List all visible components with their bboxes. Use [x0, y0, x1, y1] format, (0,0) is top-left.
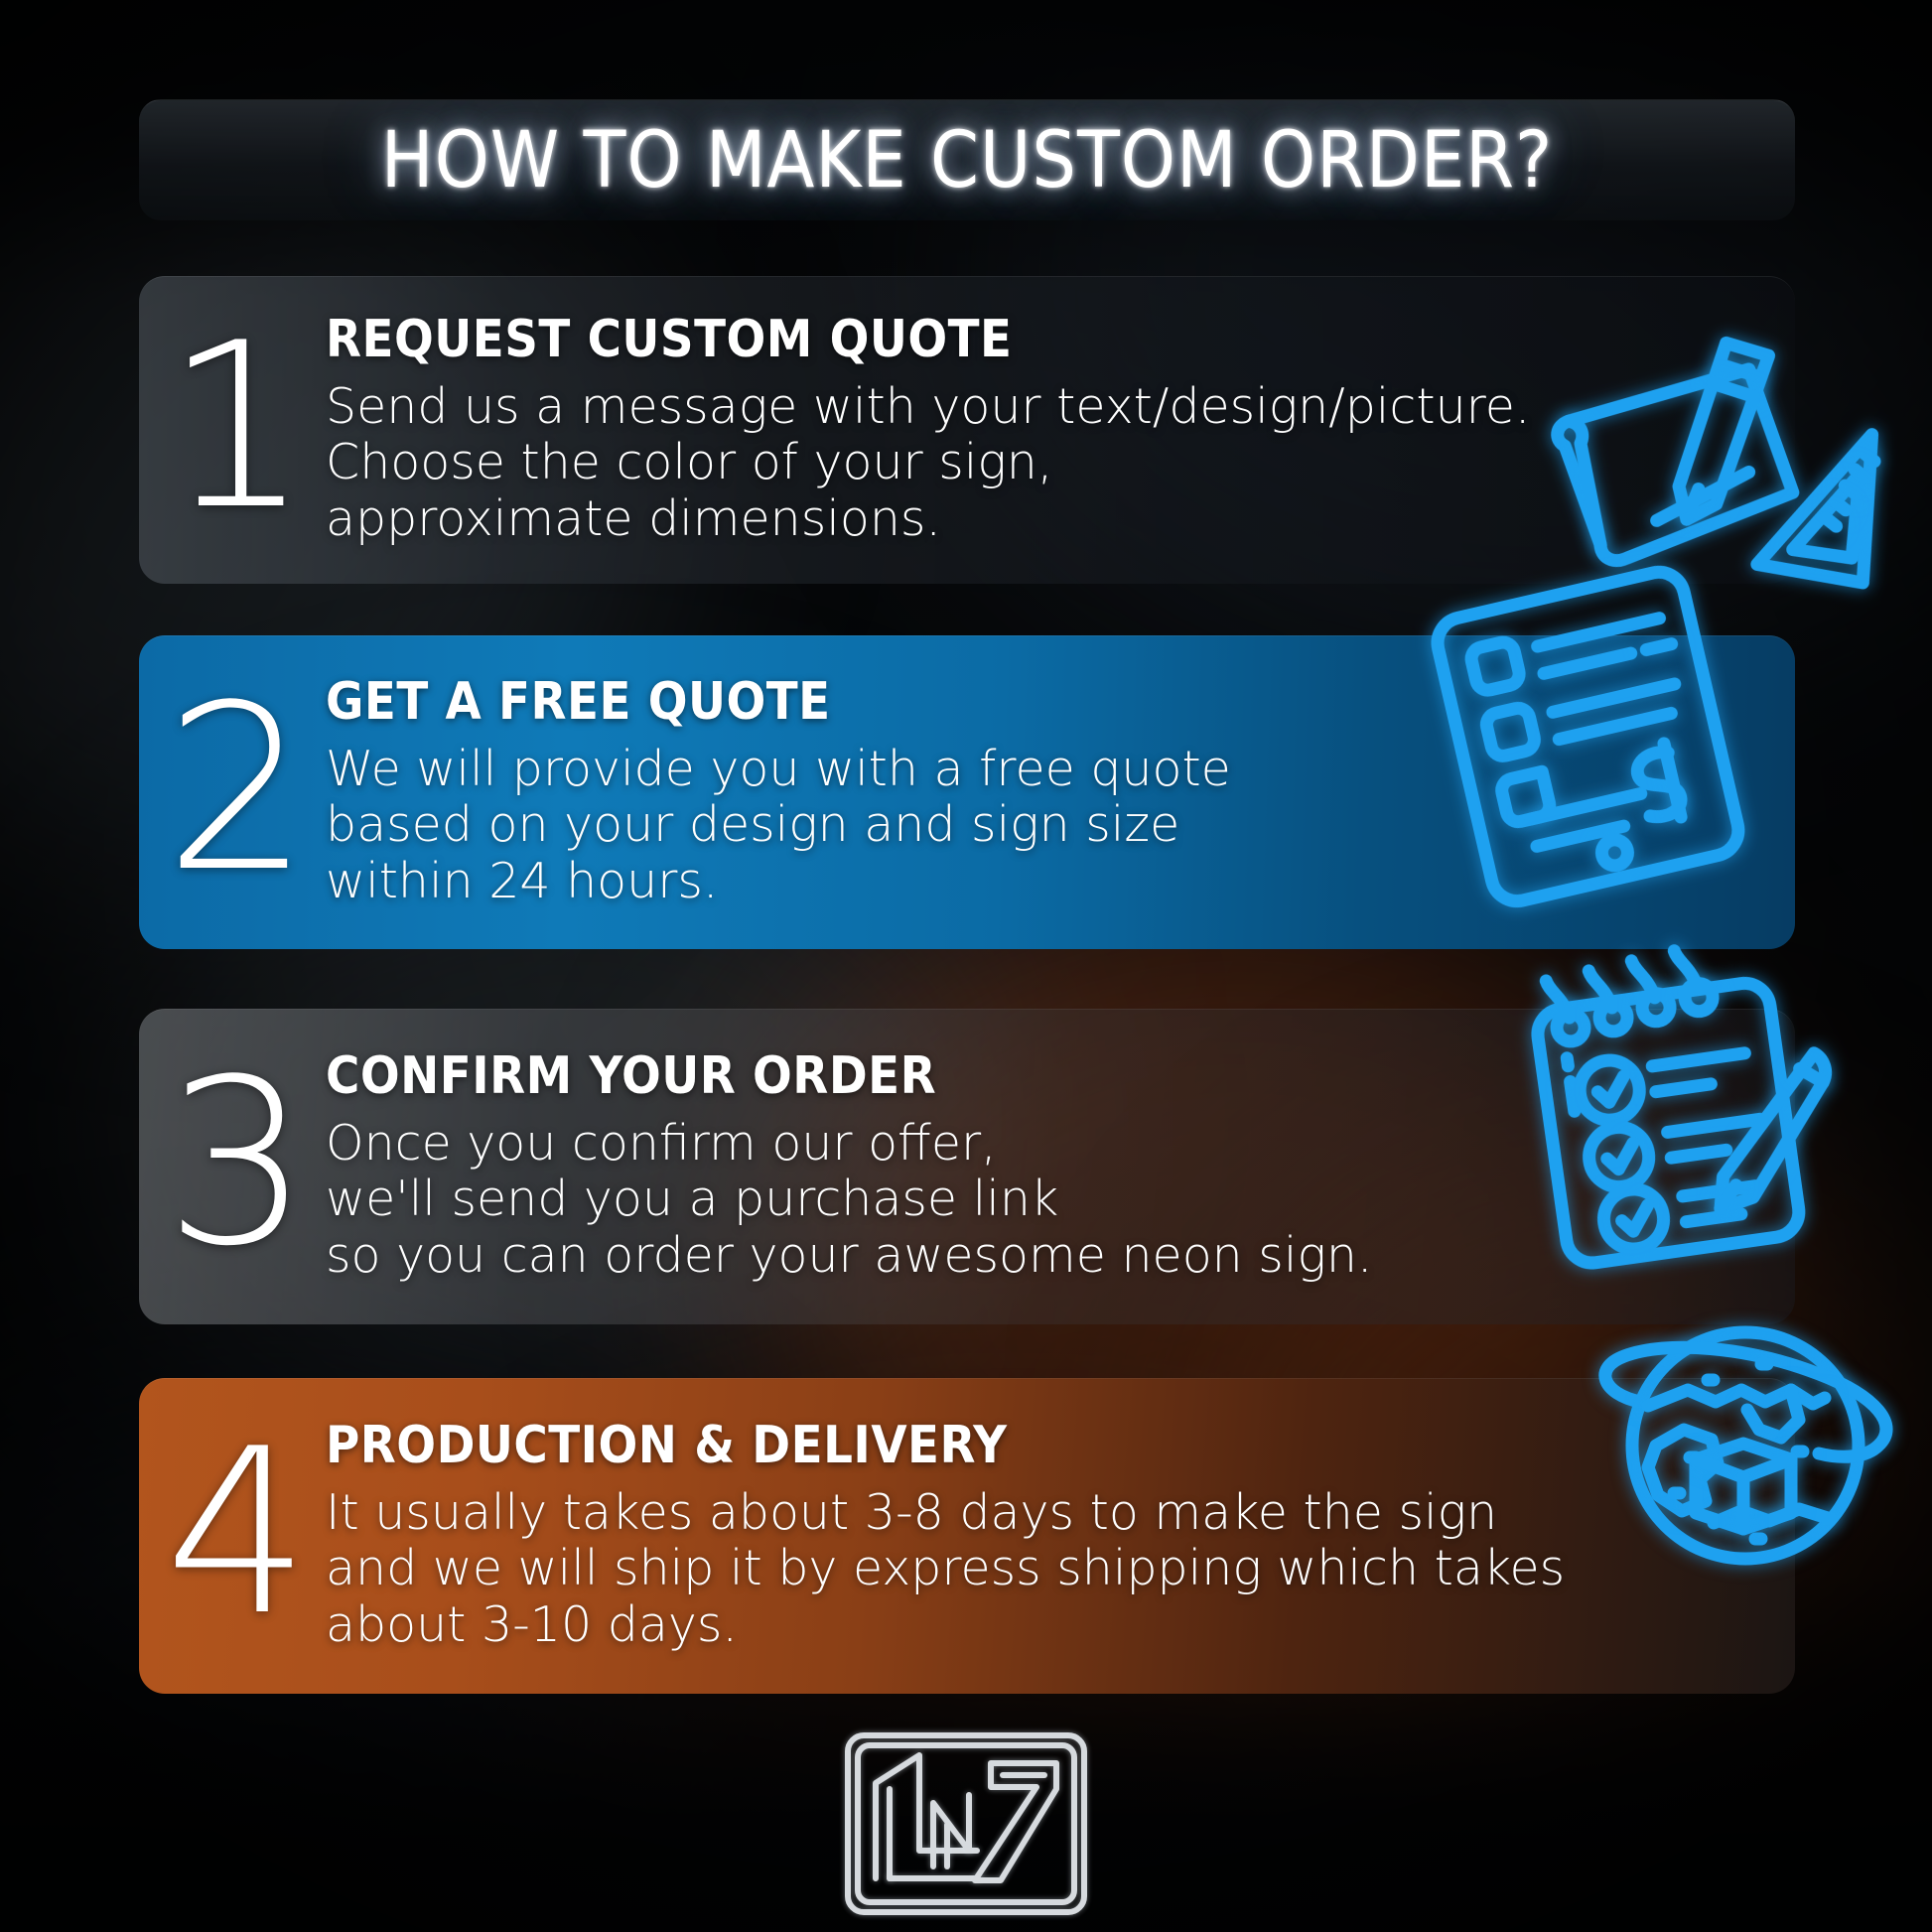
step-description-line: It usually takes about 3-8 days to make …: [326, 1485, 1765, 1542]
step-number-3: 3: [149, 1068, 326, 1260]
step-description-2: We will provide you with a free quote ba…: [326, 742, 1765, 910]
step-card-3: 3 CONFIRM YOUR ORDER Once you confirm ou…: [139, 1009, 1795, 1324]
step-card-4: 4 PRODUCTION & DELIVERY It usually takes…: [139, 1378, 1795, 1694]
step-number-1: 1: [149, 332, 326, 523]
step-description-1: Send us a message with your text/design/…: [326, 379, 1765, 548]
step-card-1: 1 REQUEST CUSTOM QUOTE Send us a message…: [139, 276, 1795, 584]
step-heading-4: PRODUCTION & DELIVERY: [326, 1419, 1765, 1473]
step-heading-3: CONFIRM YOUR ORDER: [326, 1049, 1765, 1104]
step-description-line: so you can order your awesome neon sign.: [326, 1228, 1765, 1285]
page-title-card: HOW TO MAKE CUSTOM ORDER?: [139, 99, 1795, 220]
step-card-2: 2 GET A FREE QUOTE We will provide you w…: [139, 635, 1795, 949]
step-description-line: We will provide you with a free quote: [326, 742, 1765, 798]
step-description-line: we'll send you a purchase link: [326, 1172, 1765, 1228]
step-description-line: Once you confirm our offer,: [326, 1116, 1765, 1173]
step-description-line: and we will ship it by express shipping …: [326, 1541, 1765, 1597]
step-heading-1: REQUEST CUSTOM QUOTE: [326, 313, 1765, 367]
step-heading-2: GET A FREE QUOTE: [326, 675, 1765, 730]
step-description-line: Send us a message with your text/design/…: [326, 379, 1765, 436]
step-description-4: It usually takes about 3-8 days to make …: [326, 1485, 1765, 1654]
step-number-2: 2: [149, 694, 326, 886]
step-description-line: approximate dimensions.: [326, 491, 1765, 548]
page-title: HOW TO MAKE CUSTOM ORDER?: [381, 116, 1553, 206]
step-description-line: within 24 hours.: [326, 854, 1765, 910]
step-description-line: based on your design and sign size: [326, 797, 1765, 854]
background-scene: HOW TO MAKE CUSTOM ORDER? 1 REQUEST CUST…: [0, 0, 1932, 1932]
step-number-4: 4: [149, 1438, 326, 1629]
step-description-line: Choose the color of your sign,: [326, 435, 1765, 491]
ln-monogram-logo: [842, 1729, 1090, 1918]
step-description-3: Once you confirm our offer, we'll send y…: [326, 1116, 1765, 1285]
step-description-line: about 3-10 days.: [326, 1597, 1765, 1654]
